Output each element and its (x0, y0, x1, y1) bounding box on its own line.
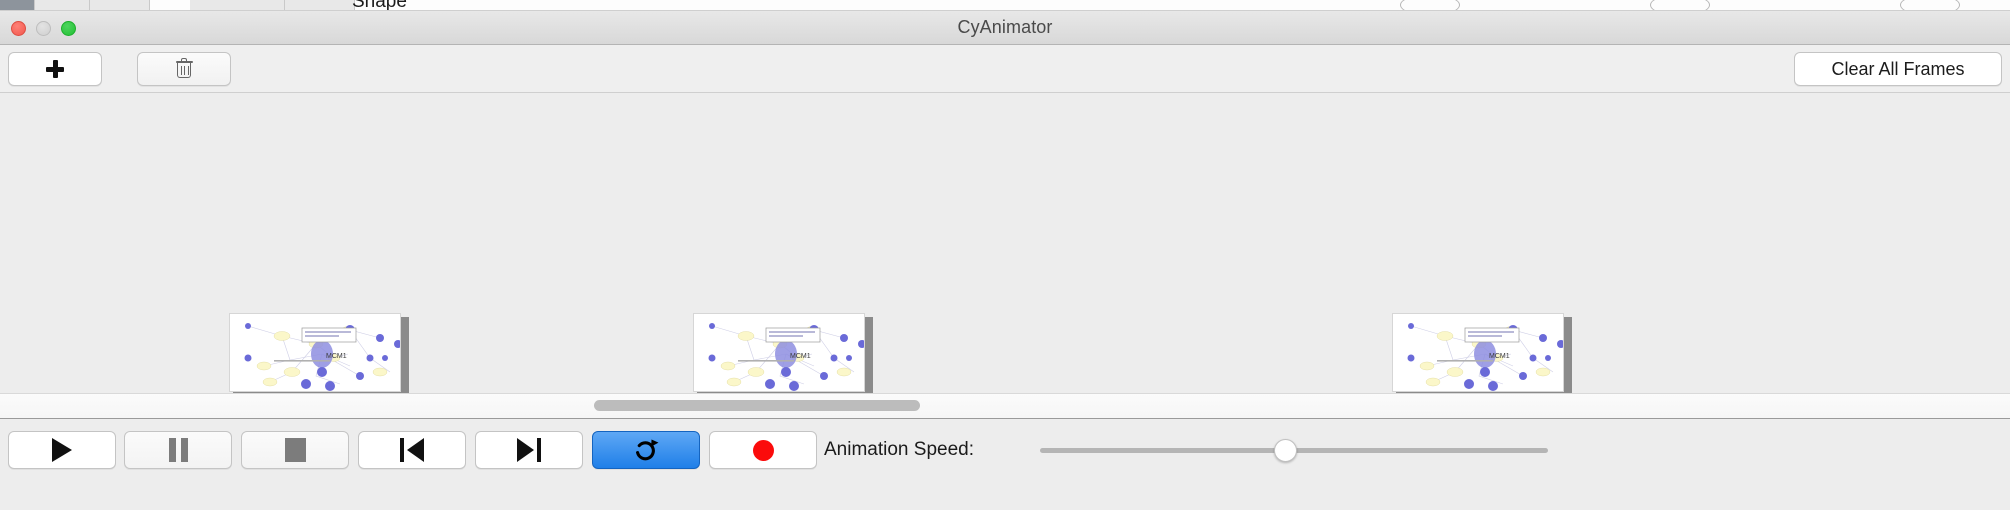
pause-button[interactable] (124, 431, 232, 469)
title-bar: CyAnimator (0, 11, 2010, 45)
clear-all-frames-button[interactable]: Clear All Frames (1794, 52, 2002, 86)
record-button[interactable] (709, 431, 817, 469)
animation-speed-slider-thumb[interactable] (1274, 439, 1297, 462)
scrollbar-thumb[interactable] (594, 400, 920, 411)
skip-end-button[interactable] (475, 431, 583, 469)
skip-forward-icon (517, 438, 541, 462)
network-thumbnail: MCM1 (229, 313, 401, 392)
clear-all-frames-label: Clear All Frames (1831, 59, 1964, 80)
keyframe-thumbnail[interactable]: MCM1 (693, 313, 869, 393)
keyframe-thumbnail[interactable]: MCM1 (229, 313, 405, 393)
loop-button[interactable] (592, 431, 700, 469)
network-thumbnail: MCM1 (693, 313, 865, 392)
add-frame-button[interactable] (8, 52, 102, 86)
plus-icon (45, 59, 65, 79)
pause-icon (169, 438, 188, 462)
playback-toolbar: Animation Speed: (0, 418, 2010, 484)
cyanimator-window: CyAnimator Clear All Frames (0, 11, 2010, 510)
horizontal-scrollbar[interactable] (0, 393, 2010, 418)
keyframe-thumbnail[interactable]: MCM1 (1392, 313, 1568, 393)
play-button[interactable] (8, 431, 116, 469)
skip-start-button[interactable] (358, 431, 466, 469)
animation-speed-label: Animation Speed: (824, 439, 974, 461)
timeline-panel[interactable]: MCM1 (0, 93, 2010, 393)
trash-icon (176, 59, 193, 79)
loop-icon (633, 437, 659, 463)
network-graph: MCM1 (230, 314, 401, 392)
svg-text:MCM1: MCM1 (326, 353, 347, 360)
window-title: CyAnimator (0, 17, 2010, 38)
network-thumbnail: MCM1 (1392, 313, 1564, 392)
network-graph: MCM1 (694, 314, 865, 392)
stop-icon (285, 438, 306, 462)
skip-back-icon (400, 438, 424, 462)
record-icon (753, 440, 774, 461)
svg-text:MCM1: MCM1 (1489, 353, 1510, 360)
svg-text:MCM1: MCM1 (790, 353, 811, 360)
network-graph: MCM1 (1393, 314, 1564, 392)
stop-button[interactable] (241, 431, 349, 469)
play-icon (52, 438, 72, 462)
delete-frame-button[interactable] (137, 52, 231, 86)
toolbar: Clear All Frames (0, 45, 2010, 93)
